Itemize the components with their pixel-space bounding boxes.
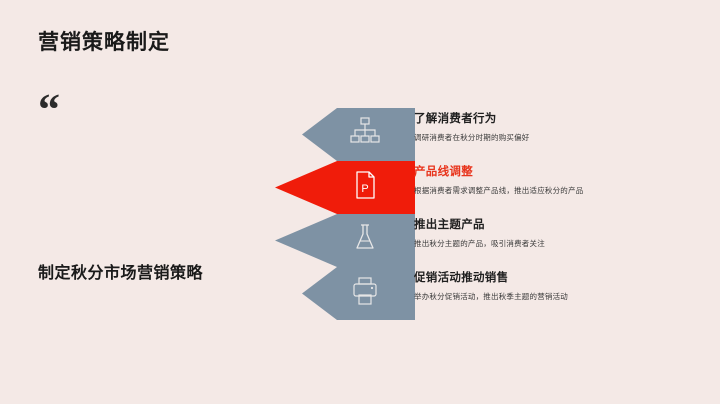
slide-canvas: 营销策略制定 “ 制定秋分市场营销策略 xyxy=(0,0,720,404)
printer-icon xyxy=(348,274,382,308)
list-item[interactable]: 促销活动推动销售 举办秋分促销活动，推出秋季主题的营销活动 xyxy=(330,267,660,319)
list-item[interactable]: 推出主题产品 推出秋分主题的产品，吸引消费者关注 xyxy=(330,214,660,266)
list-item[interactable]: P 产品线调整 根据消费者需求调整产品线，推出适应秋分的产品 xyxy=(330,161,660,213)
item-list: 了解消费者行为 调研消费者在秋分时期的购买偏好 P 产品线调整 根据消费者需求调… xyxy=(330,108,660,318)
sitemap-icon xyxy=(348,115,382,149)
list-item-desc: 举办秋分促销活动，推出秋季主题的营销活动 xyxy=(414,291,659,302)
page-title: 营销策略制定 xyxy=(38,26,170,56)
list-item-heading: 推出主题产品 xyxy=(414,218,659,233)
list-item-text: 促销活动推动销售 举办秋分促销活动，推出秋季主题的营销活动 xyxy=(414,271,659,302)
flask-icon xyxy=(348,221,382,255)
list-item-desc: 推出秋分主题的产品，吸引消费者关注 xyxy=(414,238,659,249)
list-item-text: 了解消费者行为 调研消费者在秋分时期的购买偏好 xyxy=(414,112,659,143)
list-item-text: 推出主题产品 推出秋分主题的产品，吸引消费者关注 xyxy=(414,218,659,249)
svg-text:P: P xyxy=(361,183,368,195)
list-item-heading: 促销活动推动销售 xyxy=(414,271,659,286)
list-item-text: 产品线调整 根据消费者需求调整产品线，推出适应秋分的产品 xyxy=(414,165,659,196)
document-p-icon: P xyxy=(348,168,382,202)
quote-mark-icon: “ xyxy=(38,88,60,132)
list-item[interactable]: 了解消费者行为 调研消费者在秋分时期的购买偏好 xyxy=(330,108,660,160)
list-item-heading: 产品线调整 xyxy=(414,165,659,180)
slide-subtitle: 制定秋分市场营销策略 xyxy=(38,259,203,283)
list-item-desc: 根据消费者需求调整产品线，推出适应秋分的产品 xyxy=(414,185,659,196)
list-item-desc: 调研消费者在秋分时期的购买偏好 xyxy=(414,132,659,143)
list-item-heading: 了解消费者行为 xyxy=(414,112,659,127)
